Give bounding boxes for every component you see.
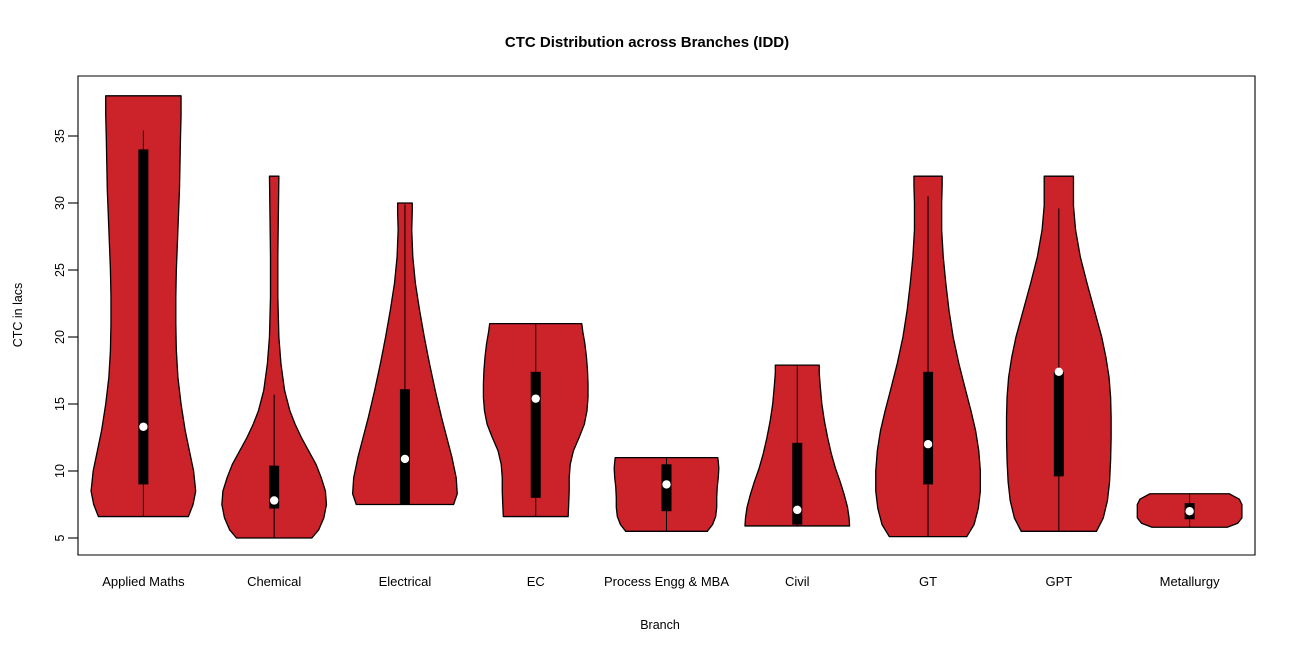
x-tick-label: Civil bbox=[785, 574, 810, 589]
violin-plot-canvas: CTC Distribution across Branches (IDD) C… bbox=[0, 0, 1294, 653]
violin-process-engg-mba bbox=[614, 458, 719, 532]
x-tick-label: Chemical bbox=[247, 574, 301, 589]
median-point bbox=[1055, 368, 1063, 376]
x-tick-label: Process Engg & MBA bbox=[604, 574, 729, 589]
iqr-box bbox=[1054, 372, 1064, 477]
x-axis: Applied MathsChemicalElectricalECProcess… bbox=[102, 574, 1220, 589]
x-tick-label: Metallurgy bbox=[1160, 574, 1220, 589]
x-tick-label: Electrical bbox=[379, 574, 432, 589]
x-tick-label: Applied Maths bbox=[102, 574, 185, 589]
y-axis-title: CTC in lacs bbox=[11, 283, 25, 348]
median-point bbox=[270, 496, 278, 504]
y-tick-label: 10 bbox=[53, 464, 67, 478]
median-point bbox=[532, 394, 540, 402]
violin-metallurgy bbox=[1137, 494, 1242, 528]
iqr-box bbox=[400, 389, 410, 504]
iqr-box bbox=[138, 149, 148, 484]
y-tick-label: 15 bbox=[53, 397, 67, 411]
x-tick-label: GT bbox=[919, 574, 937, 589]
x-tick-label: EC bbox=[527, 574, 545, 589]
y-tick-label: 25 bbox=[53, 263, 67, 277]
chart-title: CTC Distribution across Branches (IDD) bbox=[505, 34, 789, 51]
y-tick-label: 20 bbox=[53, 330, 67, 344]
y-tick-label: 30 bbox=[53, 196, 67, 210]
x-tick-label: GPT bbox=[1045, 574, 1072, 589]
iqr-box bbox=[923, 372, 933, 485]
iqr-box bbox=[531, 372, 541, 498]
violin-plot-figure: CTC Distribution across Branches (IDD) C… bbox=[0, 0, 1294, 653]
median-point bbox=[793, 506, 801, 514]
median-point bbox=[139, 423, 147, 431]
median-point bbox=[924, 440, 932, 448]
y-tick-label: 35 bbox=[53, 129, 67, 143]
y-tick-label: 5 bbox=[53, 534, 67, 541]
x-axis-title: Branch bbox=[640, 618, 680, 632]
median-point bbox=[1185, 507, 1193, 515]
median-point bbox=[401, 455, 409, 463]
median-point bbox=[662, 480, 670, 488]
